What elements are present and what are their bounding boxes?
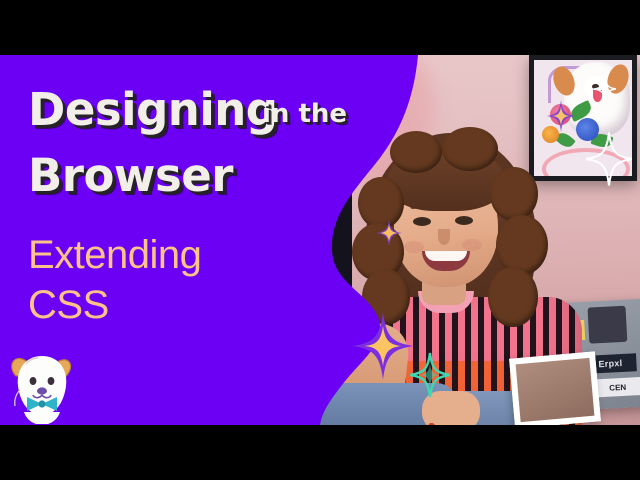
sparkle-teal xyxy=(410,352,450,402)
subtitle-line-1: Extending xyxy=(28,233,201,278)
dog-mascot-art xyxy=(12,356,71,424)
eye xyxy=(455,216,473,225)
hair-curl xyxy=(488,267,538,327)
subtitle-line-2: CSS xyxy=(28,283,109,328)
title-line-2: Browser xyxy=(28,153,233,198)
device-screen xyxy=(516,358,595,422)
nose xyxy=(438,229,450,245)
sparkle-white-large xyxy=(586,132,632,190)
cheek xyxy=(462,239,482,251)
teeth xyxy=(425,251,467,261)
sparkle-gold-large xyxy=(352,312,414,384)
hair-curl xyxy=(442,127,498,171)
hair-curl xyxy=(496,215,548,275)
sparkle-gold-poster xyxy=(546,100,576,136)
letterbox-bottom xyxy=(0,425,640,480)
title-line-1: Designing xyxy=(28,87,278,132)
white-framed-device xyxy=(509,351,601,425)
dog-mascot-logo xyxy=(2,350,82,425)
title-line-1-suffix: in the xyxy=(262,99,347,129)
hair-curl xyxy=(490,167,538,221)
letterbox-top xyxy=(0,0,640,55)
video-thumbnail-frame: JS Erpxl CEN ⌘ xyxy=(0,0,640,480)
sparkle-gold-small xyxy=(376,220,402,250)
sparkle-white-small xyxy=(594,76,616,106)
